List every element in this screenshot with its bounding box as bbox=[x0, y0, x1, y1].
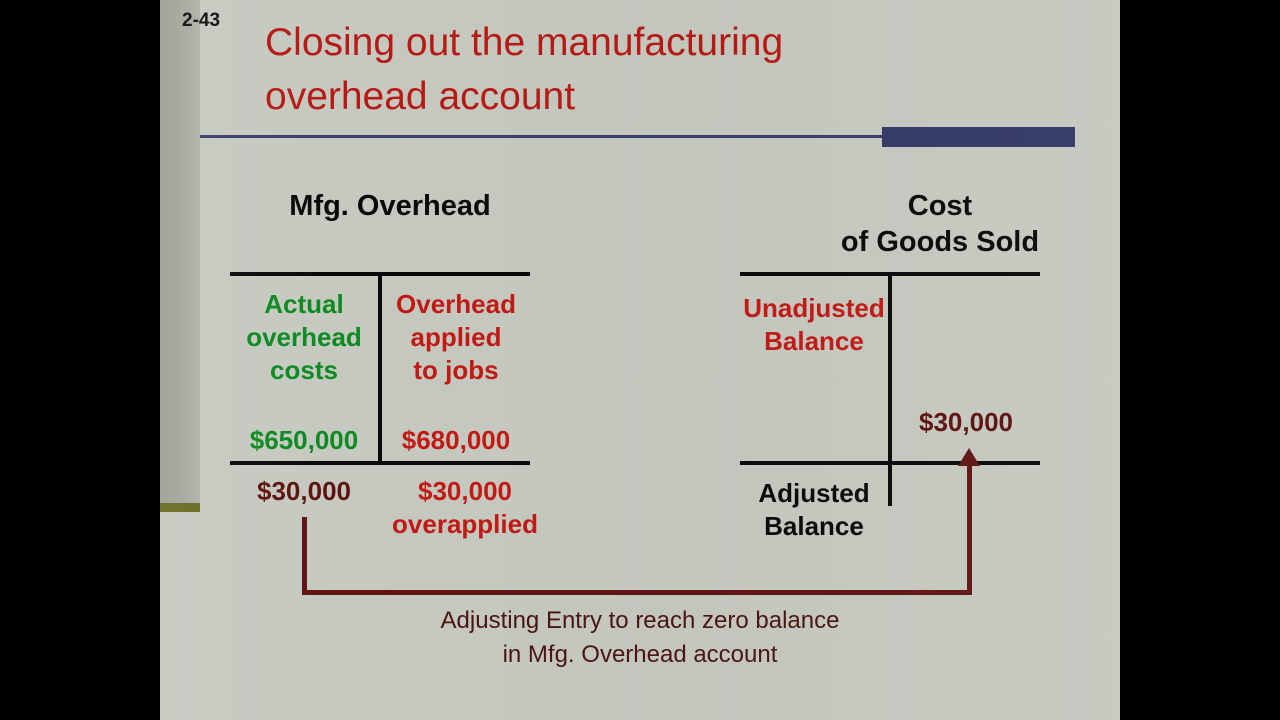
mfg-overhead-closing-credit-amount: $30,000 bbox=[382, 475, 548, 508]
cogs-adjusted-balance-line-1: Adjusted bbox=[732, 477, 896, 510]
slide-number: 2-43 bbox=[182, 10, 220, 32]
cogs-unadjusted-balance-label: Unadjusted Balance bbox=[738, 292, 890, 358]
mfg-overhead-debit-label-line-1: Actual bbox=[230, 288, 378, 321]
mfg-overhead-closing-credit: $30,000 overapplied bbox=[382, 475, 548, 541]
slide-caption: Adjusting Entry to reach zero balance in… bbox=[160, 604, 1120, 672]
connector-bottom-segment bbox=[302, 590, 972, 595]
mfg-overhead-debit-amount: $650,000 bbox=[230, 424, 378, 457]
mfg-overhead-credit-label-line-1: Overhead bbox=[382, 288, 530, 321]
mfg-overhead-credit-label-line-2: applied bbox=[382, 321, 530, 354]
mfg-overhead-debit-label-line-3: costs bbox=[230, 354, 378, 387]
cogs-credit-amount: $30,000 bbox=[890, 406, 1042, 439]
mfg-overhead-debit-label-line-2: overhead bbox=[230, 321, 378, 354]
slide-caption-line-1: Adjusting Entry to reach zero balance bbox=[160, 604, 1120, 638]
mfg-overhead-bottom-rule bbox=[230, 461, 530, 465]
cogs-title-line-2: of Goods Sold bbox=[740, 224, 1120, 260]
mfg-overhead-closing-credit-note: overapplied bbox=[382, 508, 548, 541]
presentation-slide: 2-43 Closing out the manufacturing overh… bbox=[160, 0, 1120, 720]
cogs-bottom-rule bbox=[740, 461, 1040, 465]
page-title-line-1: Closing out the manufacturing bbox=[265, 16, 925, 70]
page-title-line-2: overhead account bbox=[265, 70, 925, 124]
mfg-overhead-title: Mfg. Overhead bbox=[190, 188, 590, 224]
page-title: Closing out the manufacturing overhead a… bbox=[265, 16, 925, 124]
cogs-adjusted-balance-label: Adjusted Balance bbox=[732, 477, 896, 543]
mfg-overhead-credit-amount: $680,000 bbox=[382, 424, 530, 457]
connector-left-segment bbox=[302, 517, 307, 595]
mfg-overhead-credit-label-line-3: to jobs bbox=[382, 354, 530, 387]
mfg-overhead-debit-label: Actual overhead costs bbox=[230, 288, 378, 387]
connector-arrow-icon bbox=[958, 448, 980, 466]
connector-right-segment bbox=[967, 466, 972, 595]
cogs-unadjusted-balance-line-2: Balance bbox=[738, 325, 890, 358]
slide-stage: 2-43 Closing out the manufacturing overh… bbox=[0, 0, 1280, 720]
cogs-unadjusted-balance-line-1: Unadjusted bbox=[738, 292, 890, 325]
slide-caption-line-2: in Mfg. Overhead account bbox=[160, 638, 1120, 672]
cogs-title-line-1: Cost bbox=[740, 188, 1120, 224]
left-accent-bar bbox=[160, 0, 200, 503]
mfg-overhead-credit-label: Overhead applied to jobs bbox=[382, 288, 530, 387]
cogs-adjusted-balance-line-2: Balance bbox=[732, 510, 896, 543]
left-accent-bar-foot bbox=[160, 503, 200, 512]
title-divider-block bbox=[882, 127, 1075, 147]
mfg-overhead-closing-debit: $30,000 bbox=[230, 475, 378, 508]
cogs-title: Cost of Goods Sold bbox=[740, 188, 1120, 260]
